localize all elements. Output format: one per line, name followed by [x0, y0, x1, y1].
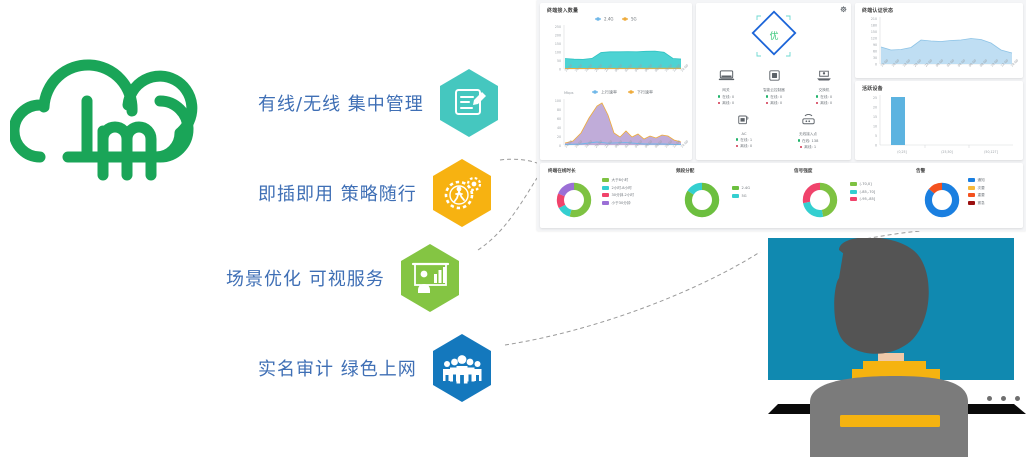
legend-item: (-85,-70] — [850, 189, 875, 197]
svg-text:200: 200 — [555, 34, 561, 38]
legend-label: 2小时-8小时 — [612, 186, 632, 190]
svg-text:120: 120 — [871, 37, 877, 41]
legend-swatch — [968, 201, 975, 205]
donut-title-4: 告警 — [916, 168, 925, 174]
svg-text:0: 0 — [559, 68, 561, 72]
svg-text:5: 5 — [875, 134, 877, 138]
svg-text:60: 60 — [557, 117, 561, 121]
legend-label: 紧急 — [978, 201, 985, 205]
device-offline: 离线: 0 — [722, 144, 766, 149]
svg-text:210: 210 — [871, 17, 877, 21]
donuts-card[interactable]: 终端在线时长 大于8小时 2小时-8小时 30分钟-2小时 小于30分钟 频段分… — [540, 163, 1023, 228]
dot — [1015, 396, 1020, 401]
feature-hex-1[interactable] — [438, 68, 500, 138]
feature-row-3[interactable]: 场景优化 可视服务 — [226, 243, 461, 313]
presentation-chart-icon — [399, 243, 461, 313]
device-online-label: 在线: 1 — [740, 138, 752, 142]
svg-text:20: 20 — [873, 106, 877, 110]
device-cell-controller[interactable]: 智能云控制器 在线: 0 离线: 0 — [750, 69, 798, 106]
legend-swatch — [968, 178, 975, 182]
feature-label-3: 场景优化 可视服务 — [226, 265, 385, 291]
svg-text:25: 25 — [873, 96, 877, 100]
device-offline-label: 离线: 0 — [722, 101, 734, 105]
clm-cloud-logo — [10, 35, 255, 185]
donut-chart-4 — [922, 180, 962, 220]
dot — [1001, 396, 1006, 401]
device-name: 无线接入点 — [782, 132, 834, 137]
devices-card[interactable]: 优 网关 在线: 0 离线: 0 智能云控制器 在线: 0 — [696, 3, 851, 160]
donut-signal-strength[interactable]: 信号强度 (-70,0] (-85,-70] (-95,-85] — [786, 163, 908, 228]
device-cell-switch[interactable]: 交换机 在线: 0 离线: 0 — [802, 69, 846, 106]
legend-swatch — [602, 193, 609, 197]
legend-item: 大于8小时 — [602, 177, 634, 185]
svg-text:60: 60 — [873, 50, 877, 54]
donut-title-2: 频段分配 — [676, 168, 694, 174]
legend-swatch — [602, 186, 609, 190]
ac-icon — [737, 113, 751, 126]
legend-swatch — [602, 201, 609, 205]
network-dashboard[interactable]: 终端接入数量 2.4G 5G 250 200 150 100 50 — [537, 0, 1026, 231]
feature-row-1[interactable]: 有线/无线 集中管理 — [258, 68, 500, 138]
svg-text:(50,127]: (50,127] — [984, 150, 998, 154]
svg-text:14:00: 14:00 — [680, 139, 689, 148]
legend-swatch — [732, 186, 739, 190]
svg-text:30: 30 — [873, 56, 877, 60]
device-cell-ac[interactable]: AC 在线: 1 离线: 0 — [722, 113, 766, 149]
device-name: 网关 — [704, 88, 748, 93]
device-name: 交换机 — [802, 88, 846, 93]
svg-text:100: 100 — [555, 99, 561, 103]
donut-title-3: 信号强度 — [794, 168, 812, 174]
terminals-card-title: 终端接入数量 — [547, 7, 578, 14]
donut-legend-2: 2.4G 5G — [732, 185, 750, 200]
svg-text:(0,25]: (0,25] — [897, 150, 907, 154]
legend-item: (-70,0] — [850, 181, 875, 189]
donut-chart-1 — [554, 180, 594, 220]
svg-text:100: 100 — [555, 51, 561, 55]
device-online-label: 在线: 0 — [820, 95, 832, 99]
device-name: 智能云控制器 — [750, 88, 798, 93]
legend-label: (-85,-70] — [860, 190, 876, 194]
active-devices-chart: 25 20 15 10 5 0 (0,25] (25,50] (50,127] — [855, 81, 1023, 160]
legend-swatch — [732, 194, 739, 198]
status-dot-online — [798, 139, 800, 141]
legend-label: 次要 — [978, 186, 985, 190]
active-bar-0 — [891, 97, 905, 145]
donut-band-allocation[interactable]: 频段分配 2.4G 5G — [668, 163, 786, 228]
gear-person-icon — [431, 158, 493, 228]
donut-title-1: 终端在线时长 — [548, 168, 576, 174]
device-online: 在线: 0 — [802, 95, 846, 100]
legend-item: 小于30分钟 — [602, 200, 634, 208]
device-online-label: 在线: 0 — [722, 95, 734, 99]
status-dot-online — [766, 95, 768, 97]
device-offline-label: 离线: 0 — [740, 144, 752, 148]
svg-text:15: 15 — [873, 115, 877, 119]
svg-text:2.4G: 2.4G — [604, 17, 613, 22]
legend-label: 通知 — [978, 178, 985, 182]
device-online: 在线: 0 — [704, 95, 748, 100]
device-offline-label: 离线: 0 — [820, 101, 832, 105]
donut-legend-3: (-70,0] (-85,-70] (-95,-85] — [850, 181, 875, 204]
legend-label: (-70,0] — [860, 182, 872, 186]
svg-text:10: 10 — [873, 125, 877, 129]
active-card-title: 活跃设备 — [862, 85, 883, 92]
chair-stripe — [840, 415, 940, 427]
legend-label: 小于30分钟 — [612, 201, 631, 205]
auth-card-title: 终端认证状态 — [862, 7, 893, 14]
legend-label: (-95,-85] — [860, 197, 876, 201]
svg-text:90: 90 — [873, 43, 877, 47]
legend-swatch — [850, 190, 857, 194]
svg-text:5G: 5G — [631, 17, 637, 22]
loading-dots — [978, 388, 1020, 406]
feature-row-2[interactable]: 即插即用 策略随行 — [258, 158, 493, 228]
terminals-card[interactable]: 终端接入数量 2.4G 5G 250 200 150 100 50 — [540, 3, 692, 160]
document-edit-icon — [438, 68, 500, 138]
device-offline: 离线: 0 — [750, 101, 798, 106]
series-down-area — [565, 103, 681, 145]
donut-chart-3 — [800, 180, 840, 220]
svg-text:(25,50]: (25,50] — [941, 150, 953, 154]
svg-text:20: 20 — [557, 135, 561, 139]
legend-item: 通知 — [968, 177, 985, 185]
device-cell-ap[interactable]: 无线接入点 在线: 138 离线: 1 — [782, 113, 834, 150]
legend-item: 次要 — [968, 185, 985, 193]
legend-swatch — [850, 197, 857, 201]
svg-text:150: 150 — [871, 30, 877, 34]
legend-item: 紧急 — [968, 200, 985, 208]
svg-text:0: 0 — [875, 144, 877, 148]
status-dot-offline — [718, 102, 720, 104]
device-offline-label: 离线: 0 — [770, 101, 782, 105]
device-online: 在线: 138 — [782, 139, 834, 144]
active-devices-card[interactable]: 活跃设备 25 20 15 10 5 0 (0,25] (25,50] (5 — [855, 81, 1023, 160]
svg-text:上行速率: 上行速率 — [601, 89, 617, 95]
status-dot-online — [816, 95, 818, 97]
svg-text:40: 40 — [557, 126, 561, 130]
status-dot-offline — [800, 146, 802, 148]
device-online: 在线: 1 — [722, 138, 766, 143]
legend-swatch — [968, 193, 975, 197]
device-offline-label: 离线: 1 — [804, 145, 816, 149]
legend-label: 2.4G — [742, 186, 751, 190]
donut-legend-1: 大于8小时 2小时-8小时 30分钟-2小时 小于30分钟 — [602, 177, 634, 207]
terminals-legend: 2.4G 5G — [595, 17, 637, 22]
ap-icon — [800, 113, 817, 126]
speed-legend: 上行速率 下行速率 — [592, 89, 653, 95]
legend-swatch — [968, 186, 975, 190]
svg-text:下行速率: 下行速率 — [637, 89, 653, 95]
feature-hex-4[interactable] — [431, 333, 493, 403]
device-online: 在线: 0 — [750, 95, 798, 100]
device-offline: 离线: 0 — [802, 101, 846, 106]
legend-item: 5G — [732, 193, 750, 201]
device-online-label: 在线: 0 — [770, 95, 782, 99]
legend-swatch — [850, 182, 857, 186]
status-dot-offline — [816, 102, 818, 104]
legend-item: 2小时-8小时 — [602, 185, 634, 193]
slide-canvas: 有线/无线 集中管理 即插即用 策略随行 — [0, 0, 1026, 457]
device-name: AC — [722, 132, 766, 136]
device-offline: 离线: 0 — [704, 101, 748, 106]
svg-text:180: 180 — [871, 24, 877, 28]
legend-item: 重要 — [968, 192, 985, 200]
status-dot-online — [718, 95, 720, 97]
svg-text:0: 0 — [875, 63, 877, 67]
legend-label: 5G — [742, 194, 747, 198]
donut-chart-2 — [682, 180, 722, 220]
terminals-charts: 2.4G 5G 250 200 150 100 50 0 — [540, 3, 692, 160]
auth-chart: 210 180 150 120 90 60 30 0 14:00 16:00 1… — [855, 3, 1023, 78]
person-at-monitor — [768, 238, 1026, 457]
feature-label-2: 即插即用 策略随行 — [258, 180, 417, 206]
status-dot-offline — [736, 145, 738, 147]
feature-hex-2[interactable] — [431, 158, 493, 228]
donut-online-duration[interactable]: 终端在线时长 大于8小时 2小时-8小时 30分钟-2小时 小于30分钟 — [540, 163, 668, 228]
status-dot-online — [736, 138, 738, 140]
status-dot-offline — [766, 102, 768, 104]
feature-row-4[interactable]: 实名审计 绿色上网 — [258, 333, 493, 403]
controller-icon — [768, 69, 781, 82]
legend-item: 2.4G — [732, 185, 750, 193]
gateway-icon — [718, 69, 735, 82]
people-group-icon — [431, 333, 493, 403]
legend-label: 30分钟-2小时 — [612, 193, 635, 197]
legend-item: 30分钟-2小时 — [602, 192, 634, 200]
svg-text:250: 250 — [555, 25, 561, 29]
donut-alarms[interactable]: 告警 通知 次要 重要 紧急 — [908, 163, 1023, 228]
svg-text:14:00: 14:00 — [680, 63, 689, 72]
feature-label-4: 实名审计 绿色上网 — [258, 355, 417, 381]
device-offline: 离线: 1 — [782, 145, 834, 150]
dot — [987, 396, 992, 401]
donut-legend-4: 通知 次要 重要 紧急 — [968, 177, 985, 207]
svg-text:150: 150 — [555, 42, 561, 46]
legend-label: 重要 — [978, 193, 985, 197]
legend-item: (-95,-85] — [850, 196, 875, 204]
svg-text:50: 50 — [557, 59, 561, 63]
auth-status-card[interactable]: 终端认证状态 210 180 150 120 90 60 30 0 14 — [855, 3, 1023, 78]
hair — [834, 238, 929, 354]
feature-label-1: 有线/无线 集中管理 — [258, 90, 424, 116]
legend-label: 大于8小时 — [612, 178, 629, 182]
legend-swatch — [602, 178, 609, 182]
health-score-badge: 优 — [696, 3, 851, 78]
svg-text:0: 0 — [559, 144, 561, 148]
device-cell-gateway[interactable]: 网关 在线: 0 离线: 0 — [704, 69, 748, 106]
device-online-label: 在线: 138 — [802, 139, 818, 143]
mbps-label: Mbps — [564, 91, 574, 95]
switch-icon — [816, 69, 832, 82]
auth-area — [881, 39, 1012, 65]
svg-text:80: 80 — [557, 108, 561, 112]
feature-hex-3[interactable] — [399, 243, 461, 313]
score-value: 优 — [769, 30, 778, 42]
